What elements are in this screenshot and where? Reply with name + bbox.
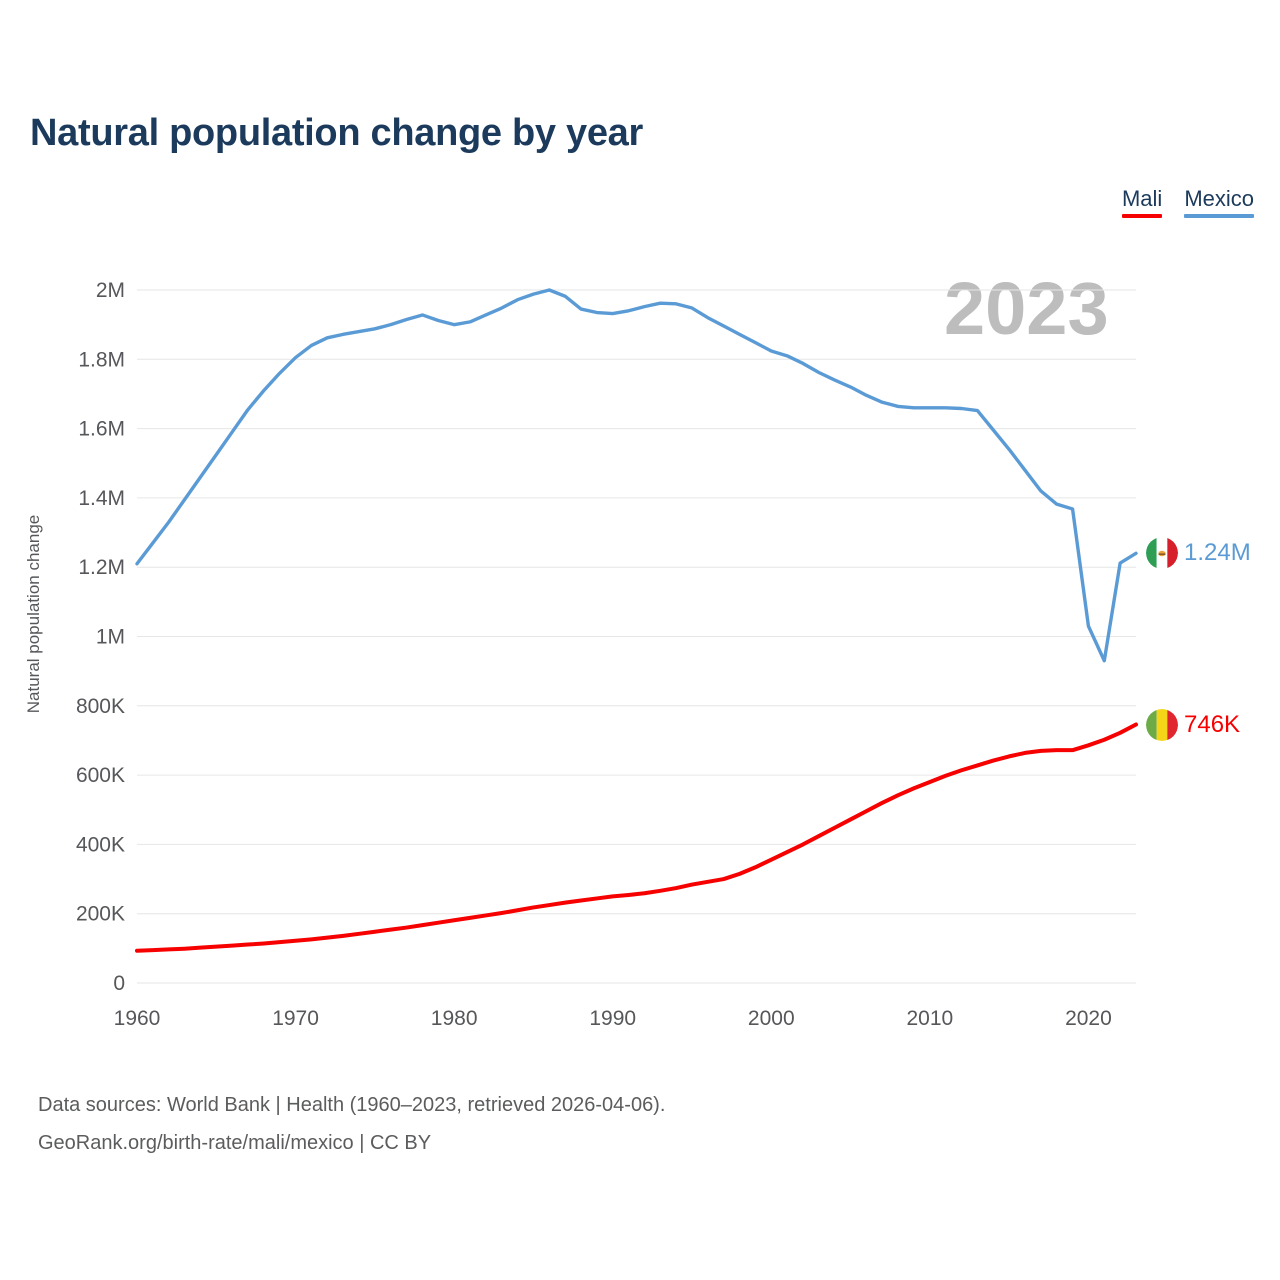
series-line-mali (137, 725, 1136, 951)
x-axis-tick-labels: 1960197019801990200020102020 (114, 1007, 1112, 1030)
mali-endpoint: 746K (1146, 709, 1240, 741)
y-tick-2M: 2M (96, 279, 125, 302)
y-tick-1.6M: 1.6M (78, 418, 125, 441)
y-tick-1.8M: 1.8M (78, 348, 125, 371)
x-tick-1970: 1970 (272, 1007, 319, 1030)
x-tick-1990: 1990 (589, 1007, 636, 1030)
x-tick-1980: 1980 (431, 1007, 478, 1030)
mexico-flag-icon (1146, 537, 1178, 569)
x-tick-1960: 1960 (114, 1007, 161, 1030)
y-tick-600K: 600K (76, 764, 125, 787)
mexico-endpoint: 1.24M (1146, 537, 1251, 569)
y-tick-1.4M: 1.4M (78, 487, 125, 510)
chart-page: Natural population change by year Mali M… (0, 0, 1280, 1280)
mali-endpoint-value: 746K (1184, 712, 1240, 738)
footer-attribution-line[interactable]: GeoRank.org/birth-rate/mali/mexico | CC … (38, 1124, 665, 1162)
y-tick-1M: 1M (96, 626, 125, 649)
y-axis-tick-labels: 0200K400K600K800K1M1.2M1.4M1.6M1.8M2M (76, 279, 125, 995)
y-tick-400K: 400K (76, 833, 125, 856)
gridlines (137, 290, 1136, 983)
x-tick-2000: 2000 (748, 1007, 795, 1030)
series-lines (137, 290, 1136, 951)
mali-flag-icon (1146, 709, 1178, 741)
x-tick-2020: 2020 (1065, 1007, 1112, 1030)
y-tick-200K: 200K (76, 903, 125, 926)
x-tick-2010: 2010 (906, 1007, 953, 1030)
y-axis-title: Natural population change (24, 464, 44, 764)
series-line-mexico (137, 290, 1136, 661)
footer-sources-line: Data sources: World Bank | Health (1960–… (38, 1086, 665, 1124)
mexico-endpoint-value: 1.24M (1184, 540, 1251, 566)
y-tick-0: 0 (113, 972, 125, 995)
footer: Data sources: World Bank | Health (1960–… (38, 1086, 665, 1162)
y-tick-800K: 800K (76, 695, 125, 718)
y-tick-1.2M: 1.2M (78, 556, 125, 579)
